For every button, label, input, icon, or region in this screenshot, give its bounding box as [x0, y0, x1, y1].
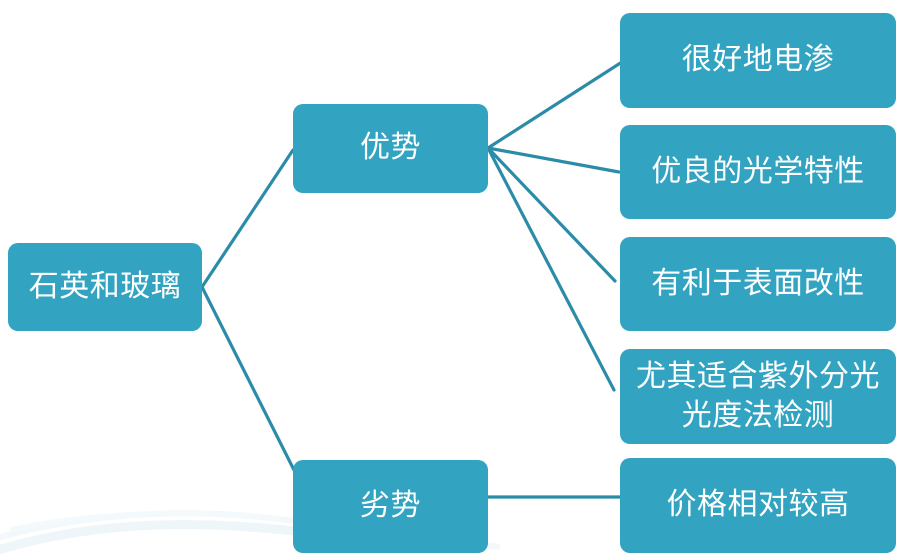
- node-root[interactable]: 石英和玻璃: [8, 243, 202, 331]
- node-leaf-advantage-1[interactable]: 很好地电渗: [620, 13, 896, 108]
- node-leaf-advantage-3-label: 有利于表面改性: [645, 265, 871, 303]
- node-leaf-disadvantage-1-label: 价格相对较高: [661, 486, 856, 524]
- node-branch-advantages-label: 优势: [354, 129, 427, 167]
- connector-advantages-to-adv-1: [488, 62, 622, 148]
- node-branch-disadvantages-label: 劣势: [354, 487, 427, 525]
- connector-advantages-to-adv-4: [488, 148, 614, 390]
- node-leaf-disadvantage-1[interactable]: 价格相对较高: [620, 458, 896, 553]
- node-leaf-advantage-1-label: 很好地电渗: [676, 41, 841, 79]
- connector-advantages-to-adv-3: [488, 148, 615, 281]
- node-leaf-advantage-2[interactable]: 优良的光学特性: [620, 125, 896, 219]
- node-branch-advantages[interactable]: 优势: [293, 104, 488, 193]
- node-root-label: 石英和玻璃: [23, 268, 188, 306]
- node-leaf-advantage-2-label: 优良的光学特性: [645, 153, 871, 191]
- connector-advantages-to-adv-2: [488, 148, 619, 172]
- node-leaf-advantage-3[interactable]: 有利于表面改性: [620, 237, 896, 331]
- mindmap-canvas: 石英和玻璃 优势 很好地电渗 优良的光学特性 有利于表面改性 尤其适合紫外分光 …: [0, 0, 905, 559]
- connector-root-to-disadvantages: [202, 287, 294, 470]
- node-branch-disadvantages[interactable]: 劣势: [293, 460, 488, 553]
- node-leaf-advantage-4[interactable]: 尤其适合紫外分光 光度法检测: [620, 349, 896, 444]
- node-leaf-advantage-4-label: 尤其适合紫外分光 光度法检测: [630, 358, 886, 435]
- connector-root-to-advantages: [202, 150, 293, 287]
